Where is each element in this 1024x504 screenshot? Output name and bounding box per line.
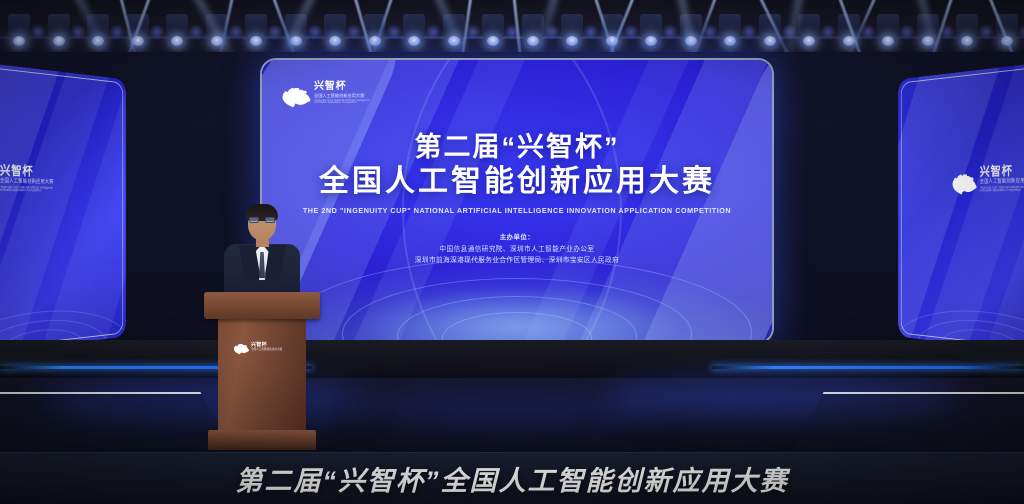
stage-light-glow [267,24,283,40]
stage-light-glow [583,24,599,40]
podium-base [208,430,316,450]
stage-scene: 兴智杯 全国人工智能创新应用大赛 "Ingenuity Cup" Nationa… [0,0,1024,504]
stage-light-glow [30,24,46,40]
screen-logo: 兴智杯 全国人工智能创新应用大赛 "Ingenuity Cup" Nationa… [282,80,370,106]
stage-light-fixture [561,14,583,40]
stage-light-glow [820,24,836,40]
stage-light-glow [188,24,204,40]
stage-light-fixture [877,14,899,40]
ceiling-lighting-rig [0,0,1024,60]
xingzhi-flower-icon [234,340,248,354]
stage-light-fixture [245,14,267,40]
event-english-subtitle: THE 2ND "INGENUITY CUP" NATIONAL ARTIFIC… [262,206,772,215]
logo-name: 兴智杯 [314,82,370,93]
stage-light-glow [978,24,994,40]
stage-light-glow [109,24,125,40]
podium: 兴智杯 全国人工智能创新应用大赛 [204,292,320,454]
stage-light-fixture [719,14,741,40]
screen-title-block: 第二届“兴智杯” 全国人工智能创新应用大赛 THE 2ND "INGENUITY… [262,132,772,215]
stage-light-fixture [48,14,70,40]
organizers-heading: 主办单位： [262,232,772,241]
stage-light-glow [307,24,323,40]
side-panel-left: 兴智杯 全国人工智能创新应用大赛 "Ingenuity Cup" Nationa… [0,58,126,358]
stage-light-fixture [798,14,820,40]
stage-light-glow [741,24,757,40]
logo-name: 兴智杯 [980,164,1024,179]
stage-light-fixture [482,14,504,40]
speaker-glasses [249,217,275,223]
podium-body [218,317,306,433]
led-strip-right [712,366,1024,369]
stage-light-fixture [403,14,425,40]
organizers-line-1: 中国信息通信研究院、深圳市人工智能产业办公室 [262,245,772,256]
organizers-block: 主办单位： 中国信息通信研究院、深圳市人工智能产业办公室 深圳市前海深港现代服务… [262,232,772,266]
side-panel-right: 兴智杯 全国人工智能创新应用大赛 "Ingenuity Cup" Nationa… [898,58,1024,358]
stage-light-glow [425,24,441,40]
main-led-screen: 兴智杯 全国人工智能创新应用大赛 "Ingenuity Cup" Nationa… [262,60,772,342]
logo-tagline-en2: Innovation Application Competition [980,189,1024,193]
event-title-line2: 全国人工智能创新应用大赛 [262,164,772,200]
stage-light-fixture [324,14,346,40]
stage-light-fixture [640,14,662,40]
stage-light-fixture [956,14,978,40]
stage-light-fixture [166,14,188,40]
side-panel-right-logo: 兴智杯 全国人工智能创新应用大赛 "Ingenuity Cup" Nationa… [952,164,1024,194]
podium-top [204,292,320,319]
organizers-line-2: 深圳市前海深港现代服务业合作区管理局、深圳市宝安区人民政府 [262,256,772,267]
logo-name: 兴智杯 [0,164,53,178]
stage-light-glow [623,24,639,40]
xingzhi-flower-icon [282,80,308,106]
stage-light-glow [386,24,402,40]
bottom-banner: 第二届“兴智杯”全国人工智能创新应用大赛 [0,452,1024,504]
stage-light-glow [346,24,362,40]
bottom-banner-text: 第二届“兴智杯”全国人工智能创新应用大赛 [236,459,789,498]
event-title-line1: 第二届“兴智杯” [262,132,772,164]
logo-tagline-cn: 全国人工智能创新应用大赛 [251,349,282,352]
floor-glow-center [360,396,660,422]
podium-logo-plate: 兴智杯 全国人工智能创新应用大赛 [234,340,282,354]
logo-tagline-en2: Innovation Application Competition [0,189,53,193]
stage-light-glow [70,24,86,40]
stage-light-glow [899,24,915,40]
stage-light-glow [228,24,244,40]
stage-front-band [0,340,1024,378]
stage-light-fixture [8,14,30,40]
xingzhi-flower-icon [952,166,974,194]
logo-tagline-en2: Innovation Application Competition [314,101,370,104]
side-panel-left-logo: 兴智杯 全国人工智能创新应用大赛 "Ingenuity Cup" Nationa… [0,163,53,193]
stage-light-glow [662,24,678,40]
stage-light-glow [149,24,165,40]
